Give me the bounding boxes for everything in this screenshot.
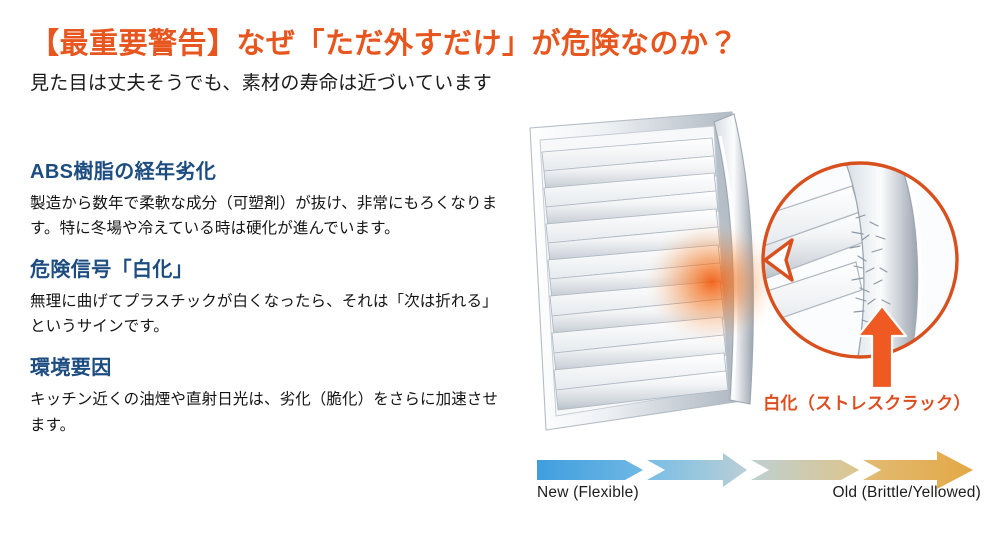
scale-label-new: New (Flexible)	[537, 484, 639, 502]
page-title: 【最重要警告】なぜ「ただ外すだけ」が危険なのか？	[30, 20, 960, 62]
aging-scale-labels: New (Flexible) Old (Brittle/Yellowed)	[525, 484, 985, 508]
page-subtitle: 見た目は丈夫そうでも、素材の寿命は近づいています	[30, 68, 650, 95]
section-abs-degradation: ABS樹脂の経年劣化 製造から数年で柔軟な成分（可塑剤）が抜け、非常にもろくなり…	[30, 160, 510, 241]
stress-glow	[640, 216, 784, 348]
section-body: 無理に曲げてプラスチックが白くなったら、それは「次は折れる」というサインです。	[30, 289, 498, 339]
magnifier-callout	[750, 156, 957, 372]
section-body: キッチン近くの油煙や直射日光は、劣化（脆化）をさらに加速させます。	[30, 387, 498, 437]
content-column: ABS樹脂の経年劣化 製造から数年で柔軟な成分（可塑剤）が抜け、非常にもろくなり…	[30, 160, 510, 455]
slide-root: 【最重要警告】なぜ「ただ外すだけ」が危険なのか？ 見た目は丈夫そうでも、素材の寿…	[0, 0, 996, 536]
section-whitening-warning: 危険信号「白化」 無理に曲げてプラスチックが白くなったら、それは「次は折れる」と…	[30, 258, 510, 339]
section-body: 製造から数年で柔軟な成分（可塑剤）が抜け、非常にもろくなります。特に冬場や冷えて…	[30, 191, 498, 241]
section-heading: ABS樹脂の経年劣化	[30, 160, 510, 184]
section-environmental-factors: 環境要因 キッチン近くの油煙や直射日光は、劣化（脆化）をさらに加速させます。	[30, 356, 510, 437]
scale-segment	[751, 460, 859, 480]
section-heading: 環境要因	[30, 356, 510, 380]
section-heading: 危険信号「白化」	[30, 258, 510, 282]
stress-crack-callout-label: 白化（ストレスクラック）	[742, 389, 992, 414]
scale-label-old: Old (Brittle/Yellowed)	[832, 484, 981, 502]
scale-segment	[647, 453, 747, 487]
scale-segment	[537, 460, 643, 480]
